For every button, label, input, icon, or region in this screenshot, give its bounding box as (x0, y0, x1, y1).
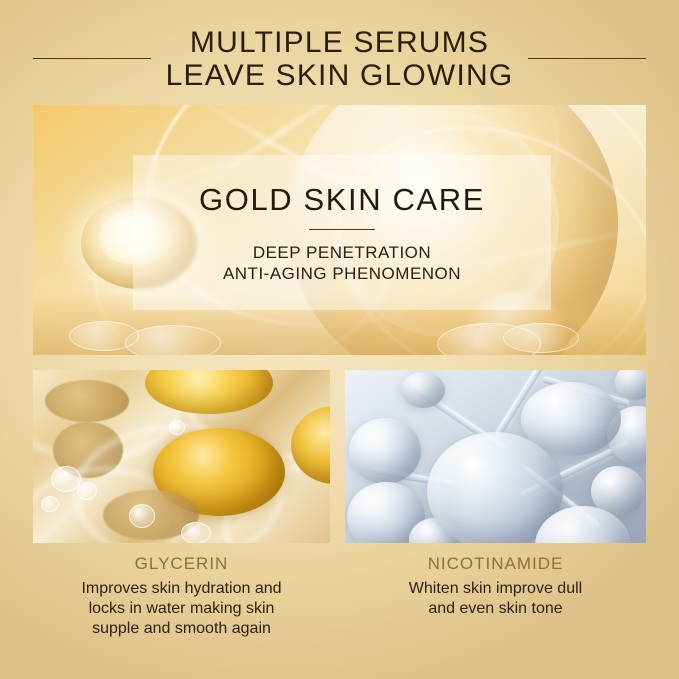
molecule-sphere (615, 370, 646, 400)
headline-line-1: MULTIPLE SERUMS (0, 26, 679, 59)
bubble-icon (437, 323, 541, 355)
dropper-drop-icon (379, 139, 392, 152)
bubble-icon (69, 321, 139, 351)
glycerin-desc-line-1: Improves skin hydration and (23, 579, 340, 599)
nicotinamide-desc-line-1: Whiten skin improve dull (345, 579, 646, 599)
oil-droplet-dim (45, 380, 129, 422)
molecule-sphere (349, 418, 421, 484)
page-header: MULTIPLE SERUMS LEAVE SKIN GLOWING (0, 26, 679, 92)
headline-line-2: LEAVE SKIN GLOWING (0, 59, 679, 92)
header-rule-right (528, 58, 646, 59)
banner-text-block: GOLD SKIN CARE DEEP PENETRATION ANTI-AGI… (133, 155, 551, 310)
nicotinamide-desc-line-2: and even skin tone (345, 599, 646, 619)
dropper-pipette-icon (391, 105, 528, 137)
hero-banner-image: GOLD SKIN CARE DEEP PENETRATION ANTI-AGI… (33, 105, 646, 355)
molecule-sphere (401, 372, 445, 408)
water-bubble-icon (181, 522, 211, 543)
header-rule-left (33, 58, 151, 59)
bubble-icon (503, 323, 579, 353)
glycerin-title: GLYCERIN (23, 552, 340, 576)
banner-divider (309, 229, 375, 230)
water-bubble-icon (77, 482, 97, 500)
nicotinamide-title: NICOTINAMIDE (345, 552, 646, 576)
glycerin-image (33, 370, 330, 543)
banner-subtitle-line-2: ANTI-AGING PHENOMENON (223, 263, 461, 284)
banner-subtitle-line-1: DEEP PENETRATION (253, 242, 431, 263)
glycerin-caption: GLYCERIN Improves skin hydration and loc… (23, 552, 340, 639)
water-bubble-icon (169, 420, 185, 435)
water-bubble-icon (41, 496, 59, 512)
bubble-icon (125, 325, 221, 355)
banner-title: GOLD SKIN CARE (199, 182, 485, 218)
glycerin-desc-line-2: locks in water making skin (23, 599, 340, 619)
glycerin-desc-line-3: supple and smooth again (23, 619, 340, 639)
nicotinamide-image (345, 370, 646, 543)
nicotinamide-caption: NICOTINAMIDE Whiten skin improve dull an… (345, 552, 646, 619)
marketing-page: MULTIPLE SERUMS LEAVE SKIN GLOWING GOLD … (0, 0, 679, 679)
water-bubble-icon (129, 504, 155, 528)
